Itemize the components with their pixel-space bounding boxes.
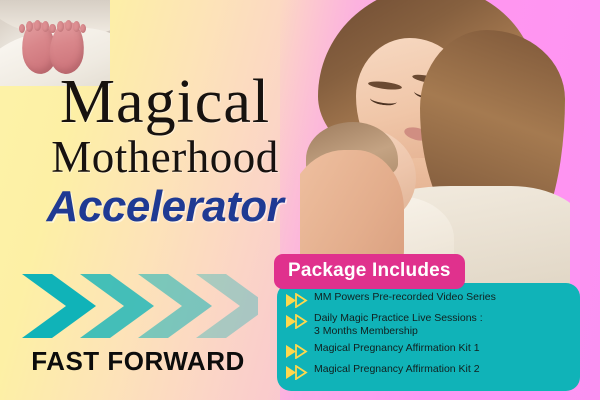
title-line-motherhood: Motherhood (0, 133, 330, 182)
double-chevron-icon (285, 293, 311, 308)
list-item-line1: Daily Magic Practice Live Sessions : (314, 312, 483, 325)
title-line-magical: Magical (0, 72, 330, 133)
chevron-arrow-group (18, 272, 258, 340)
list-item-text: Magical Pregnancy Affirmation Kit 1 (314, 342, 480, 355)
title-line-accelerator: Accelerator (0, 183, 330, 231)
list-item: MM Powers Pre-recorded Video Series (277, 291, 580, 308)
list-item-text: Magical Pregnancy Affirmation Kit 2 (314, 363, 480, 376)
list-item-line1: MM Powers Pre-recorded Video Series (314, 291, 496, 304)
double-chevron-icon (285, 344, 311, 359)
list-item-text: MM Powers Pre-recorded Video Series (314, 291, 496, 304)
list-item-line1: Magical Pregnancy Affirmation Kit 1 (314, 342, 480, 355)
list-item: Daily Magic Practice Live Sessions : 3 M… (277, 312, 580, 338)
list-item-text: Daily Magic Practice Live Sessions : 3 M… (314, 312, 483, 338)
baby-toes-right (50, 20, 88, 33)
list-item-line2: 3 Months Membership (314, 325, 483, 338)
list-item-line1: Magical Pregnancy Affirmation Kit 2 (314, 363, 480, 376)
fast-forward-label: FAST FORWARD (18, 346, 258, 377)
headline-block: Magical Motherhood Accelerator (0, 72, 330, 232)
list-item: Magical Pregnancy Affirmation Kit 1 (277, 342, 580, 359)
poster-canvas: Magical Motherhood Accelerator FAST FORW… (0, 0, 600, 400)
double-chevron-icon (285, 365, 311, 380)
package-includes-badge: Package Includes (274, 254, 465, 289)
list-item: Magical Pregnancy Affirmation Kit 2 (277, 363, 580, 380)
fast-forward-block: FAST FORWARD (18, 272, 258, 377)
double-chevron-icon (285, 314, 311, 329)
package-includes-panel: MM Powers Pre-recorded Video Series Dail… (277, 283, 580, 391)
chevron-right-icon (22, 274, 96, 338)
